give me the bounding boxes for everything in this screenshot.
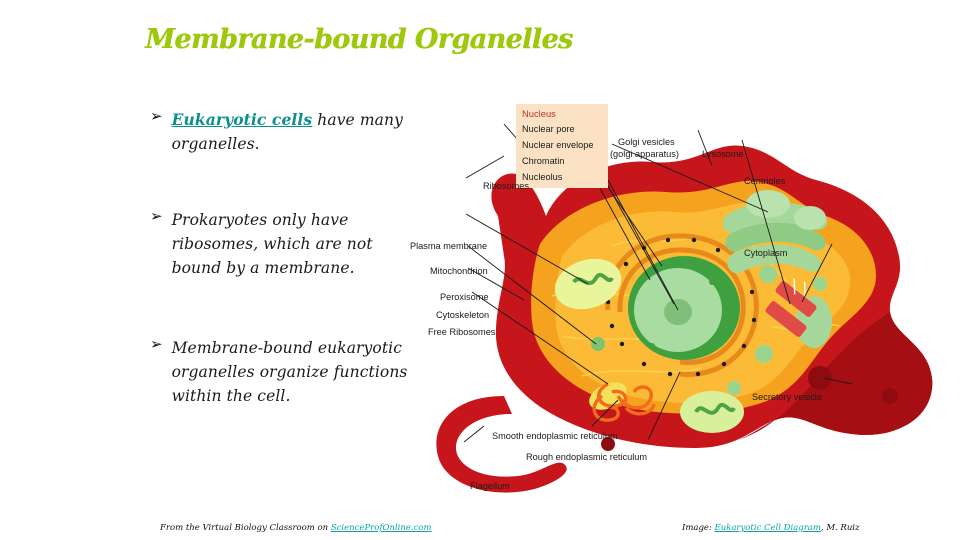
slide-canvas: Membrane-bound Organelles ➢ Eukaryotic c…: [0, 0, 960, 540]
bullet-text: Prokaryotes only have ribosomes, which a…: [172, 208, 405, 280]
footer-right: Image: Eukaryotic Cell Diagram, M. Ruiz: [682, 523, 860, 533]
label-flagellum: Flagellum: [470, 481, 510, 492]
footer-right-prefix: Image:: [682, 523, 715, 533]
label-golgi-apparatus: (golgi apparatus): [610, 149, 679, 160]
label-chromatin: Chromatin: [522, 156, 564, 167]
vesicle-shape: [813, 277, 827, 291]
page-title: Membrane-bound Organelles: [145, 24, 573, 55]
list-item: ➢ Prokaryotes only have ribosomes, which…: [150, 208, 405, 280]
cell-illustration: [412, 96, 960, 508]
lysosome-shape: [759, 265, 777, 283]
bullet-marker-icon: ➢: [150, 336, 163, 353]
footer-left: From the Virtual Biology Classroom on Sc…: [160, 523, 432, 533]
label-golgi-vesicles: Golgi vesicles: [618, 137, 675, 148]
bullet-text: Eukaryotic cells have many organelles.: [172, 108, 405, 156]
label-nuclear-envelope: Nuclear envelope: [522, 140, 594, 151]
label-cytoskeleton: Cytoskeleton: [436, 310, 489, 321]
bullet-marker-icon: ➢: [150, 208, 163, 225]
label-smooth-er: Smooth endoplasmic reticulum: [492, 431, 618, 442]
bullet-text: Membrane-bound eukaryotic organelles org…: [172, 336, 412, 408]
label-ribosomes: Ribosomes: [483, 181, 529, 192]
nucleus-box-title: Nucleus: [522, 108, 556, 119]
vesicle-shape-4: [727, 381, 741, 395]
label-rough-er: Rough endoplasmic reticulum: [526, 452, 647, 463]
footer-right-suffix: , M. Ruiz: [821, 523, 860, 533]
eukaryotic-cells-link[interactable]: Eukaryotic cells: [172, 110, 313, 129]
secretory-vesicle-shape-2: [882, 388, 898, 404]
list-item: ➢ Membrane-bound eukaryotic organelles o…: [150, 336, 412, 408]
secretory-vesicle-shape: [808, 366, 832, 390]
list-item: ➢ Eukaryotic cells have many organelles.: [150, 108, 405, 156]
scienceprofonline-link[interactable]: ScienceProfOnline.com: [331, 523, 432, 533]
label-cytoplasm: Cytoplasm: [744, 248, 787, 259]
label-peroxisome: Peroxisome: [440, 292, 489, 303]
label-plasma-membrane: Plasma membrane: [410, 241, 487, 252]
eukaryotic-cell-diagram: Nucleus Nuclear pore Nuclear envelope Ch…: [412, 96, 960, 508]
label-free-ribosomes: Free Ribosomes: [428, 327, 495, 338]
label-nuclear-pore: Nuclear pore: [522, 124, 575, 135]
nucleolus-shape: [664, 299, 692, 325]
peroxisome-shape: [591, 337, 605, 351]
vesicle-shape-3: [755, 345, 773, 363]
mitochondrion-shape-2: [680, 391, 744, 433]
label-lysosome: Lysosome: [702, 149, 744, 160]
bullet-marker-icon: ➢: [150, 108, 163, 125]
eukaryotic-cell-diagram-link[interactable]: Eukaryotic Cell Diagram: [715, 523, 821, 533]
label-centrioles: Centrioles: [744, 176, 785, 187]
label-mitochondrion: Mitochondrion: [430, 266, 488, 277]
footer-left-prefix: From the Virtual Biology Classroom on: [160, 523, 331, 533]
label-secretory-vesicle: Secretory vesicle: [752, 392, 822, 403]
